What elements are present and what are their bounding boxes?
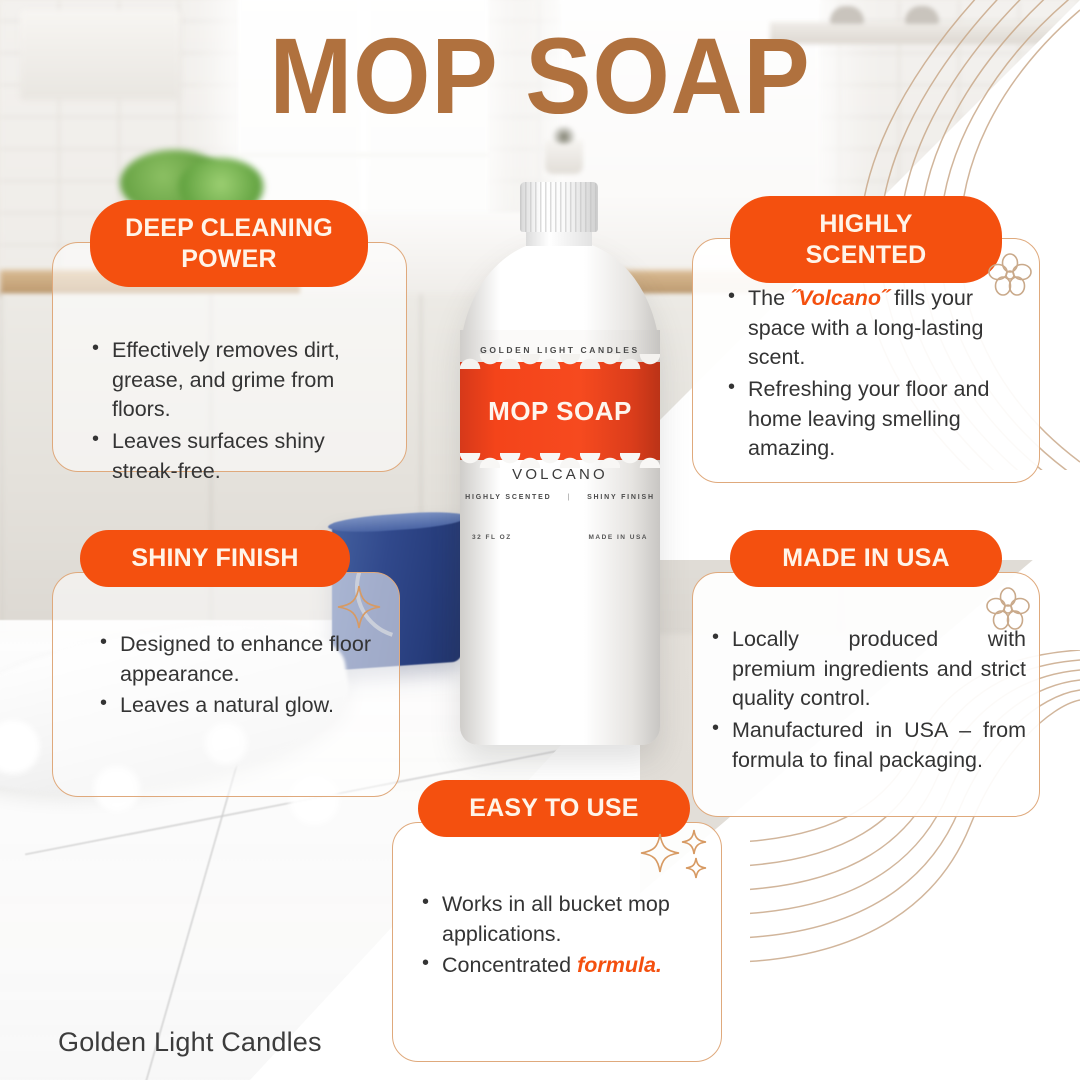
bullet-text-pre: Concentrated <box>442 953 577 977</box>
card-bullet-list: Locally produced with premium ingredient… <box>710 625 1026 777</box>
flower-icon <box>984 250 1036 302</box>
bottle-neck <box>526 230 592 246</box>
card-badge-deep-cleaning: DEEP CLEANING POWER <box>90 200 368 287</box>
bottle-attr-right: SHINY FINISH <box>587 493 655 504</box>
card-badge-highly-scented: HIGHLY SCENTED <box>730 196 1002 283</box>
highlight-volcano: ˝Volcano˝ <box>791 286 888 310</box>
bottle-label-footer: 32 FL OZ MADE IN USA <box>472 534 648 541</box>
list-item: Concentrated formula. <box>420 951 700 981</box>
list-item: Works in all bucket mop applications. <box>420 890 700 949</box>
bottle-attr-separator: | <box>567 493 571 504</box>
sparkle-icon <box>330 578 388 636</box>
bottle-label-lower: VOLCANO HIGHLY SCENTED | SHINY FINISH <box>460 466 660 532</box>
list-item: Manufactured in USA – from formula to fi… <box>710 716 1026 775</box>
bullet-text-pre: The <box>748 286 791 310</box>
product-infographic: MOP SOAP DEEP CLEANING POWER Effectively… <box>0 0 1080 1080</box>
card-bullet-list: Designed to enhance floor appearance. Le… <box>98 630 378 723</box>
product-bottle: GOLDEN LIGHT CANDLES MOP SOAP VOLCANO HI… <box>452 182 668 752</box>
list-item: Designed to enhance floor appearance. <box>98 630 378 689</box>
small-potted-plant <box>545 140 583 174</box>
list-item: Effectively removes dirt, grease, and gr… <box>90 336 382 425</box>
card-badge-made-in-usa: MADE IN USA <box>730 530 1002 587</box>
bottle-label-red-band: MOP SOAP <box>460 362 660 460</box>
page-title: MOP SOAP <box>43 22 1037 130</box>
list-item: Refreshing your floor and home leaving s… <box>726 375 1011 464</box>
list-item: Locally produced with premium ingredient… <box>710 625 1026 714</box>
bottle-attributes: HIGHLY SCENTED | SHINY FINISH <box>460 493 660 504</box>
bottle-product-name: MOP SOAP <box>488 396 632 427</box>
card-bullet-list: Works in all bucket mop applications. Co… <box>420 890 700 983</box>
card-bullet-list: Effectively removes dirt, grease, and gr… <box>90 336 382 488</box>
bottle-cap <box>520 182 598 232</box>
card-bullet-list: The ˝Volcano˝ fills your space with a lo… <box>726 284 1011 466</box>
sparkle-icon <box>638 828 716 890</box>
list-item: Leaves a natural glow. <box>98 691 378 721</box>
bottle-attr-left: HIGHLY SCENTED <box>465 493 551 504</box>
bottle-origin: MADE IN USA <box>589 534 648 541</box>
list-item: The ˝Volcano˝ fills your space with a lo… <box>726 284 1011 373</box>
bottle-scent-name: VOLCANO <box>460 466 660 483</box>
flower-icon <box>982 584 1034 636</box>
highlight-formula: formula. <box>577 953 662 977</box>
brand-footer: Golden Light Candles <box>58 1027 322 1058</box>
list-item: Leaves surfaces shiny streak-free. <box>90 427 382 486</box>
card-badge-shiny-finish: SHINY FINISH <box>80 530 350 587</box>
bottle-volume: 32 FL OZ <box>472 534 512 541</box>
